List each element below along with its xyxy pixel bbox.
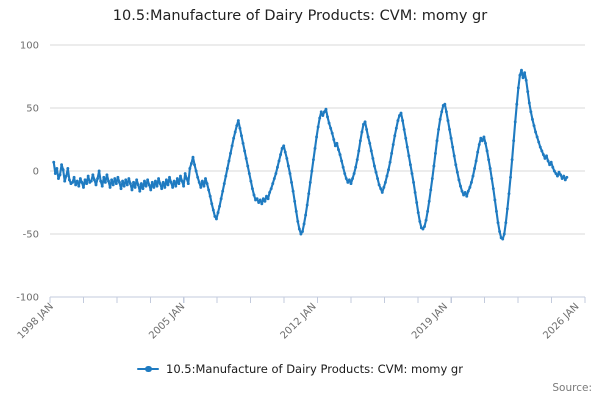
x-axis-tick-label: 2026 JAN [541, 301, 581, 341]
series-point [531, 118, 534, 121]
series-point [62, 168, 65, 171]
series-point [503, 233, 506, 236]
series-point [121, 180, 124, 183]
series-point [112, 183, 115, 186]
series-point [314, 147, 317, 150]
series-point [237, 119, 240, 122]
series-point [375, 171, 378, 174]
series-point [79, 177, 82, 180]
series-point [414, 191, 417, 194]
series-point [301, 230, 304, 233]
series-point [326, 115, 329, 118]
series-point [157, 177, 160, 180]
series-point [184, 172, 187, 175]
series-point [332, 138, 335, 141]
series-point [548, 163, 551, 166]
series-point [123, 185, 126, 188]
series-point [343, 172, 346, 175]
line-chart-plot: 100500-50-100 1998 JAN2005 JAN2012 JAN20… [0, 0, 600, 400]
series-point [66, 167, 69, 170]
series-point [508, 192, 511, 195]
series-point [304, 214, 307, 217]
series-point [465, 195, 468, 198]
series-point [293, 200, 296, 203]
series-point [545, 154, 548, 157]
series-point [104, 181, 107, 184]
series-point [273, 177, 276, 180]
y-axis-tick-label: 50 [26, 104, 39, 115]
series-point [77, 185, 80, 188]
series-point [489, 167, 492, 170]
series-point [281, 147, 284, 150]
series-point [198, 181, 201, 184]
series-point [462, 193, 465, 196]
series-point [240, 134, 243, 137]
series-point [215, 217, 218, 220]
series-point [193, 163, 196, 166]
series-point [390, 152, 393, 155]
series-point [253, 193, 256, 196]
series-point [498, 230, 501, 233]
series-point [523, 71, 526, 74]
series-point [339, 153, 342, 156]
series-point [170, 181, 173, 184]
series-point [126, 183, 129, 186]
series-point [109, 186, 112, 189]
series-point [381, 191, 384, 194]
series-point [85, 182, 88, 185]
series-point [409, 163, 412, 166]
series-point [486, 149, 489, 152]
series-point [334, 144, 337, 147]
series-point [290, 181, 293, 184]
series-point [248, 172, 251, 175]
series-point [265, 195, 268, 198]
series-point [145, 185, 148, 188]
series-point [98, 170, 101, 173]
series-point [362, 123, 365, 126]
series-point [137, 183, 140, 186]
x-axis-tick-labels: 1998 JAN2005 JAN2012 JAN2019 JAN2026 JAN [16, 301, 582, 341]
series-point [113, 177, 116, 180]
gridlines-group [50, 45, 585, 297]
series-point [359, 139, 362, 142]
series-point [110, 178, 113, 181]
series-point [171, 186, 174, 189]
x-axis [50, 297, 585, 303]
series-point [181, 180, 184, 183]
series-point [515, 103, 518, 106]
x-axis-tick-label: 1998 JAN [16, 301, 56, 341]
series-point [52, 161, 55, 164]
series-point [497, 221, 500, 224]
series-point [482, 136, 485, 139]
series-point [87, 175, 90, 178]
series-point [431, 177, 434, 180]
series-point [74, 183, 77, 186]
y-axis-tick-label: 100 [20, 41, 39, 52]
series-point [325, 108, 328, 111]
series-point [238, 127, 241, 130]
series-point [445, 110, 448, 113]
series-point [357, 149, 360, 152]
series-point [537, 141, 540, 144]
series-point [278, 159, 281, 162]
series-point [245, 157, 248, 160]
series-point [165, 178, 168, 181]
series-point [156, 185, 159, 188]
series-point [176, 177, 179, 180]
series-point [356, 158, 359, 161]
series-point [437, 128, 440, 131]
series-point [376, 177, 379, 180]
series-point [190, 162, 193, 165]
series-point [396, 119, 399, 122]
series-point [80, 181, 83, 184]
series-point [249, 180, 252, 183]
series-point [217, 211, 220, 214]
series-point [511, 158, 514, 161]
series-point [127, 177, 130, 180]
series-point [246, 165, 249, 168]
series-point [490, 177, 493, 180]
series-point [479, 137, 482, 140]
series-point [295, 210, 298, 213]
series-point [468, 186, 471, 189]
series-point [461, 190, 464, 193]
series-point [271, 182, 274, 185]
series-point [528, 102, 531, 105]
series-point [318, 117, 321, 120]
series-point [167, 183, 170, 186]
series-point [526, 90, 529, 93]
series-point [226, 167, 229, 170]
series-point [54, 172, 57, 175]
series-point [213, 215, 216, 218]
series-point [287, 165, 290, 168]
series-point [561, 177, 564, 180]
series-point [71, 181, 74, 184]
series-point [348, 178, 351, 181]
series-point [234, 130, 237, 133]
series-point [436, 139, 439, 142]
series-point [551, 166, 554, 169]
series-point [481, 139, 484, 142]
series-point [154, 180, 157, 183]
series-point [177, 182, 180, 185]
series-point [514, 120, 517, 123]
series-point [173, 180, 176, 183]
y-axis-tick-label: -100 [16, 293, 39, 304]
series-point [418, 220, 421, 223]
series-point [386, 175, 389, 178]
series-point [207, 188, 210, 191]
series-point [518, 74, 521, 77]
series-point [270, 187, 273, 190]
series-point [558, 171, 561, 174]
series-point [152, 186, 155, 189]
series-point [350, 182, 353, 185]
series-point [289, 172, 292, 175]
series-point [425, 219, 428, 222]
series-point [328, 122, 331, 125]
series-point [120, 187, 123, 190]
series-point [493, 199, 496, 202]
series-point [307, 192, 310, 195]
series-point [565, 176, 568, 179]
x-axis-tick-label: 2005 JAN [147, 301, 187, 341]
series-point [454, 163, 457, 166]
series-point [140, 182, 143, 185]
series-point [141, 187, 144, 190]
series-point [151, 181, 154, 184]
series-point [163, 186, 166, 189]
series-point [346, 181, 349, 184]
series-point [268, 191, 271, 194]
series-point [231, 144, 234, 147]
series-point [235, 124, 238, 127]
series-point [534, 130, 537, 133]
series-point [448, 128, 451, 131]
series-point [146, 178, 149, 181]
series-point [303, 222, 306, 225]
series-point [187, 182, 190, 185]
series-point [323, 110, 326, 113]
series-point [400, 112, 403, 115]
series-point [398, 114, 401, 117]
series-point [447, 119, 450, 122]
series-point [149, 188, 152, 191]
series-point [539, 146, 542, 149]
series-point [379, 187, 382, 190]
series-point [368, 142, 371, 145]
series-point [101, 185, 104, 188]
series-point [331, 132, 334, 135]
series-point [457, 178, 460, 181]
series-point [243, 149, 246, 152]
series-point [478, 143, 481, 146]
series-point [421, 228, 424, 231]
series-point [65, 175, 68, 178]
series-point [564, 178, 567, 181]
series-point [276, 166, 279, 169]
series-point [82, 186, 85, 189]
series-point [382, 186, 385, 189]
series-point [267, 197, 270, 200]
y-axis-tick-label: -50 [23, 230, 39, 241]
series-point [487, 158, 490, 161]
series-point [522, 76, 525, 79]
series-point [209, 195, 212, 198]
series-point [320, 110, 323, 113]
chart-legend: 10.5:Manufacture of Dairy Products: CVM:… [0, 362, 600, 376]
series-point [188, 167, 191, 170]
series-point [370, 149, 373, 152]
series-point [542, 153, 545, 156]
series-point [160, 187, 163, 190]
series-point [453, 154, 456, 157]
chart-container: 10.5:Manufacture of Dairy Products: CVM:… [0, 0, 600, 400]
series-point [134, 186, 137, 189]
series-point [55, 167, 58, 170]
series-point [556, 175, 559, 178]
series-point [292, 190, 295, 193]
series-point [525, 79, 528, 82]
series-point [401, 119, 404, 122]
series-point [351, 177, 354, 180]
series-point [342, 166, 345, 169]
series-point [138, 190, 141, 193]
series-point [257, 201, 260, 204]
series-point [389, 161, 392, 164]
series-point [426, 210, 429, 213]
series-point [329, 127, 332, 130]
series-point [242, 142, 245, 145]
series-point [232, 137, 235, 140]
series-point [529, 110, 532, 113]
data-series-group [52, 69, 568, 241]
series-point [182, 185, 185, 188]
series-point [174, 185, 177, 188]
series-point [312, 158, 315, 161]
series-point [484, 142, 487, 145]
series-point [520, 69, 523, 72]
series-point [378, 183, 381, 186]
series-point [202, 185, 205, 188]
series-point [364, 120, 367, 123]
series-point [306, 204, 309, 207]
y-axis-tick-labels: 100500-50-100 [16, 41, 39, 304]
series-point [554, 172, 557, 175]
series-point [91, 173, 94, 176]
series-point [393, 134, 396, 137]
x-axis-tick-label: 2019 JAN [410, 301, 450, 341]
series-point [262, 197, 265, 200]
series-point [432, 165, 435, 168]
series-point [412, 181, 415, 184]
series-point [206, 182, 209, 185]
series-point [95, 183, 98, 186]
series-point [129, 182, 132, 185]
series-point [428, 200, 431, 203]
series-point [199, 186, 202, 189]
series-point [282, 144, 285, 147]
series-point [533, 124, 536, 127]
series-point [195, 170, 198, 173]
series-point [371, 157, 374, 160]
series-point [298, 228, 301, 231]
series-point [132, 181, 135, 184]
series-point [501, 238, 504, 241]
series-point [407, 154, 410, 157]
series-point [406, 146, 409, 149]
series-point [68, 178, 71, 181]
series-point [365, 128, 368, 131]
series-point [404, 137, 407, 140]
series-point [251, 187, 254, 190]
series-point [317, 125, 320, 128]
series-point [168, 176, 171, 179]
series-point [423, 225, 426, 228]
x-axis-tick-label: 2012 JAN [279, 301, 319, 341]
series-point [553, 170, 556, 173]
series-point [472, 175, 475, 178]
series-point [440, 110, 443, 113]
series-point [504, 221, 507, 224]
series-point [57, 177, 60, 180]
series-point [417, 211, 420, 214]
series-point [285, 157, 288, 160]
series-point [392, 143, 395, 146]
series-point [451, 146, 454, 149]
series-point [107, 180, 110, 183]
series-point [459, 185, 462, 188]
series-point [429, 188, 432, 191]
series-point [559, 173, 562, 176]
series-point [395, 127, 398, 130]
series-point [224, 175, 227, 178]
series-point [76, 180, 79, 183]
series-point [135, 178, 138, 181]
series-point [118, 181, 121, 184]
series-point [373, 165, 376, 168]
series-point [517, 86, 520, 89]
series-point [544, 157, 547, 160]
series-point [310, 170, 313, 173]
series-point [384, 181, 387, 184]
series-point [102, 176, 105, 179]
series-point [143, 180, 146, 183]
series-point [179, 175, 182, 178]
series-point [353, 172, 356, 175]
series-point [131, 188, 134, 191]
series-point [367, 136, 370, 139]
series-point [321, 114, 324, 117]
series-point [470, 181, 473, 184]
series-point [260, 202, 263, 205]
series-point [456, 171, 459, 174]
series-point [335, 142, 338, 145]
series-point [124, 178, 127, 181]
series-point [467, 190, 470, 193]
series-line-0 [54, 70, 567, 239]
series-point [299, 233, 302, 236]
series-point [279, 153, 282, 156]
series-point [84, 178, 87, 181]
series-point [354, 166, 357, 169]
series-point [492, 187, 495, 190]
series-point [212, 209, 215, 212]
y-axis-tick-label: 0 [33, 167, 39, 178]
series-point [475, 159, 478, 162]
series-point [256, 197, 259, 200]
series-point [218, 205, 221, 208]
series-point [450, 137, 453, 140]
series-point [223, 182, 226, 185]
source-label: Source: [552, 382, 592, 394]
series-point [345, 177, 348, 180]
series-point [309, 181, 312, 184]
series-point [506, 207, 509, 210]
series-point [148, 183, 151, 186]
series-point [434, 152, 437, 155]
series-point [411, 172, 414, 175]
series-point [159, 182, 162, 185]
series-point [337, 148, 340, 151]
series-point [116, 176, 119, 179]
series-point [60, 163, 63, 166]
series-point [259, 199, 262, 202]
